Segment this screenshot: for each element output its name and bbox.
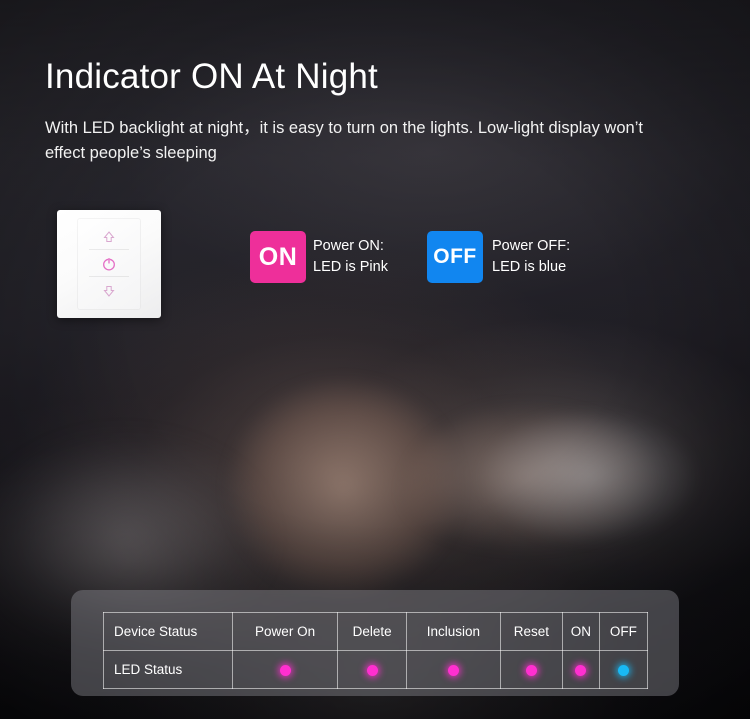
status-table-card: Device Status Power On Delete Inclusion … bbox=[71, 590, 679, 696]
led-indicator-on bbox=[563, 651, 600, 689]
switch-faceplate bbox=[77, 218, 141, 310]
cell-inclusion: Inclusion bbox=[407, 613, 501, 651]
product-switch-image bbox=[57, 210, 161, 318]
switch-divider bbox=[89, 276, 129, 277]
legend-power-off-line1: Power OFF: bbox=[492, 236, 570, 257]
led-status-table: Device Status Power On Delete Inclusion … bbox=[103, 612, 648, 689]
cell-reset: Reset bbox=[500, 613, 563, 651]
legend-power-on-line1: Power ON: bbox=[313, 236, 388, 257]
cell-delete: Delete bbox=[338, 613, 407, 651]
legend-power-on: Power ON: LED is Pink bbox=[313, 236, 388, 278]
page-subtitle: With LED backlight at night，it is easy t… bbox=[45, 116, 685, 166]
row-label-led-status: LED Status bbox=[104, 651, 233, 689]
up-arrow-icon bbox=[100, 228, 118, 246]
badge-power-off: OFF bbox=[427, 231, 483, 283]
led-indicator-reset bbox=[500, 651, 563, 689]
led-dot-blue-icon bbox=[618, 665, 629, 676]
row-label-device-status: Device Status bbox=[104, 613, 233, 651]
page-title: Indicator ON At Night bbox=[45, 57, 378, 97]
led-indicator-power-on bbox=[233, 651, 338, 689]
led-dot-pink-icon bbox=[575, 665, 586, 676]
led-dot-pink-icon bbox=[280, 665, 291, 676]
cell-on: ON bbox=[563, 613, 600, 651]
switch-divider bbox=[89, 249, 129, 250]
led-indicator-inclusion bbox=[407, 651, 501, 689]
led-indicator-delete bbox=[338, 651, 407, 689]
cell-off: OFF bbox=[599, 613, 647, 651]
down-arrow-icon bbox=[100, 282, 118, 300]
promo-page: Indicator ON At Night With LED backlight… bbox=[0, 0, 750, 719]
power-icon bbox=[100, 255, 118, 273]
table-row: LED Status bbox=[104, 651, 648, 689]
cell-power-on: Power On bbox=[233, 613, 338, 651]
led-dot-pink-icon bbox=[367, 665, 378, 676]
table-row: Device Status Power On Delete Inclusion … bbox=[104, 613, 648, 651]
legend-power-off-line2: LED is blue bbox=[492, 257, 570, 278]
led-dot-pink-icon bbox=[526, 665, 537, 676]
led-dot-pink-icon bbox=[448, 665, 459, 676]
legend-power-off: Power OFF: LED is blue bbox=[492, 236, 570, 278]
led-indicator-off bbox=[599, 651, 647, 689]
badge-power-on: ON bbox=[250, 231, 306, 283]
legend-power-on-line2: LED is Pink bbox=[313, 257, 388, 278]
